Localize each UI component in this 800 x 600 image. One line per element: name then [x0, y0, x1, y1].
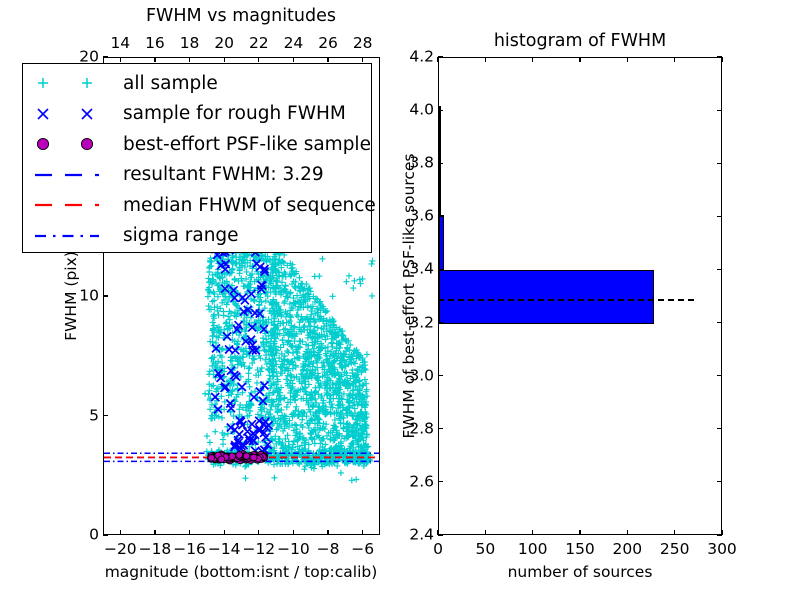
- x-tick-label-top: 28: [353, 36, 373, 52]
- legend-label: resultant FWHM: 3.29: [121, 164, 324, 185]
- y-tick: [438, 534, 443, 535]
- y-tick: [438, 322, 443, 323]
- legend-box: all sample sample for rough FWHM best-ef…: [22, 63, 372, 253]
- x-tick-label-top: 18: [180, 36, 200, 52]
- x-tick-label: −12: [242, 542, 275, 558]
- histogram-xlabel: number of sources: [508, 563, 653, 581]
- y-tick: [438, 481, 443, 482]
- y-tick: [438, 110, 443, 111]
- x-tick-label-top: 26: [318, 36, 338, 52]
- resultant-fwhm-dashline: [438, 299, 694, 301]
- y-tick: [103, 415, 108, 416]
- y-tick-label: 5: [73, 408, 99, 424]
- y-tick-label: 0: [73, 527, 99, 543]
- x-tick-top: [627, 57, 628, 62]
- x-tick-label: 150: [565, 542, 595, 558]
- y-tick: [103, 56, 108, 57]
- y-tick-right: [717, 216, 722, 217]
- x-tick: [532, 530, 533, 535]
- y-tick: [438, 56, 443, 57]
- scatter-ylabel: FWHM (pix): [62, 251, 80, 341]
- cross-icon: [29, 101, 121, 127]
- x-tick-label-top: 14: [110, 36, 130, 52]
- x-tick: [189, 530, 190, 535]
- y-tick: [438, 216, 443, 217]
- scatter-xlabel: magnitude (bottom:isnt / top:calib): [105, 563, 378, 581]
- y-tick-label: 2.6: [394, 474, 434, 490]
- x-tick-label: 250: [660, 542, 690, 558]
- y-tick-right: [717, 110, 722, 111]
- x-tick-label: 0: [433, 542, 443, 558]
- x-tick: [293, 530, 294, 535]
- y-tick-right: [717, 428, 722, 429]
- x-tick: [258, 530, 259, 535]
- legend-label: sigma range: [121, 225, 239, 246]
- y-tick: [438, 428, 443, 429]
- x-tick-top: [437, 57, 438, 62]
- legend-item: sample for rough FWHM: [29, 99, 363, 130]
- x-tick: [579, 530, 580, 535]
- y-tick-right: [717, 56, 722, 57]
- y-tick-label: 4.2: [394, 49, 434, 65]
- figure-canvas: −20−18−16−14−12−10−8−6141618202224262805…: [0, 0, 800, 600]
- legend-item: resultant FWHM: 3.29: [29, 160, 363, 191]
- x-tick: [362, 530, 363, 535]
- histogram-plot-area: [439, 58, 721, 534]
- y-tick: [438, 163, 443, 164]
- x-tick-top: [224, 57, 225, 62]
- y-tick-right: [717, 375, 722, 376]
- histogram-bar: [439, 162, 441, 215]
- histogram-title: histogram of FWHM: [494, 31, 666, 51]
- x-tick-label: 100: [518, 542, 548, 558]
- x-tick: [327, 530, 328, 535]
- plus-icon: [29, 70, 121, 96]
- x-tick-top: [120, 57, 121, 62]
- legend-label: all sample: [121, 73, 218, 94]
- x-tick-label: −10: [277, 542, 310, 558]
- x-tick-label: −20: [104, 542, 137, 558]
- x-tick-top: [579, 57, 580, 62]
- x-tick: [154, 530, 155, 535]
- y-tick-right: [717, 322, 722, 323]
- x-tick: [120, 530, 121, 535]
- y-tick-label: 4.0: [394, 102, 434, 118]
- legend-item: sigma range: [29, 221, 363, 252]
- y-tick: [103, 534, 108, 535]
- y-tick-right: [717, 269, 722, 270]
- x-tick-label: −18: [139, 542, 172, 558]
- y-tick: [103, 295, 108, 296]
- y-tick-right: [717, 481, 722, 482]
- x-tick-top: [189, 57, 190, 62]
- x-tick: [485, 530, 486, 535]
- legend-item: all sample: [29, 68, 363, 99]
- x-tick-top: [362, 57, 363, 62]
- x-tick-label-top: 22: [249, 36, 269, 52]
- dashdot-line-icon: [29, 223, 121, 249]
- x-tick-top: [721, 57, 722, 62]
- x-tick: [627, 530, 628, 535]
- x-tick-label: 50: [475, 542, 495, 558]
- y-tick: [438, 269, 443, 270]
- legend-item: best-effort PSF-like sample: [29, 129, 363, 160]
- legend-label: best-effort PSF-like sample: [121, 134, 371, 155]
- x-tick-label: 300: [707, 542, 737, 558]
- x-tick-top: [258, 57, 259, 62]
- x-tick-top: [532, 57, 533, 62]
- histogram-bar: [439, 215, 444, 271]
- histogram-bar: [439, 270, 654, 323]
- y-tick-label: 2.4: [394, 527, 434, 543]
- x-tick-label-top: 20: [214, 36, 234, 52]
- circle-icon: [29, 131, 121, 157]
- x-tick-label-top: 16: [145, 36, 165, 52]
- scatter-title: FWHM vs magnitudes: [146, 6, 336, 26]
- x-tick-label: 200: [613, 542, 643, 558]
- x-tick-label: −16: [173, 542, 206, 558]
- y-tick-right: [717, 163, 722, 164]
- x-tick-label: −6: [351, 542, 374, 558]
- x-tick-top: [293, 57, 294, 62]
- dashed-line-icon: [29, 162, 121, 188]
- x-tick-top: [674, 57, 675, 62]
- x-tick-top: [485, 57, 486, 62]
- legend-label: median FHWM of sequence: [121, 195, 376, 216]
- x-tick: [674, 530, 675, 535]
- histogram-bar: [439, 106, 441, 162]
- histogram-axes: [438, 57, 722, 535]
- x-tick: [224, 530, 225, 535]
- x-tick-label: −8: [317, 542, 340, 558]
- x-tick-label-top: 24: [284, 36, 304, 52]
- x-tick-top: [154, 57, 155, 62]
- x-tick-label: −14: [208, 542, 241, 558]
- histogram-ylabel: FWHM of best-effort PSF-like sources: [400, 153, 418, 438]
- y-tick: [438, 375, 443, 376]
- x-tick-top: [327, 57, 328, 62]
- dashed-line-icon: [29, 192, 121, 218]
- y-tick-right: [717, 534, 722, 535]
- legend-label: sample for rough FWHM: [121, 103, 346, 124]
- legend-item: median FHWM of sequence: [29, 190, 363, 221]
